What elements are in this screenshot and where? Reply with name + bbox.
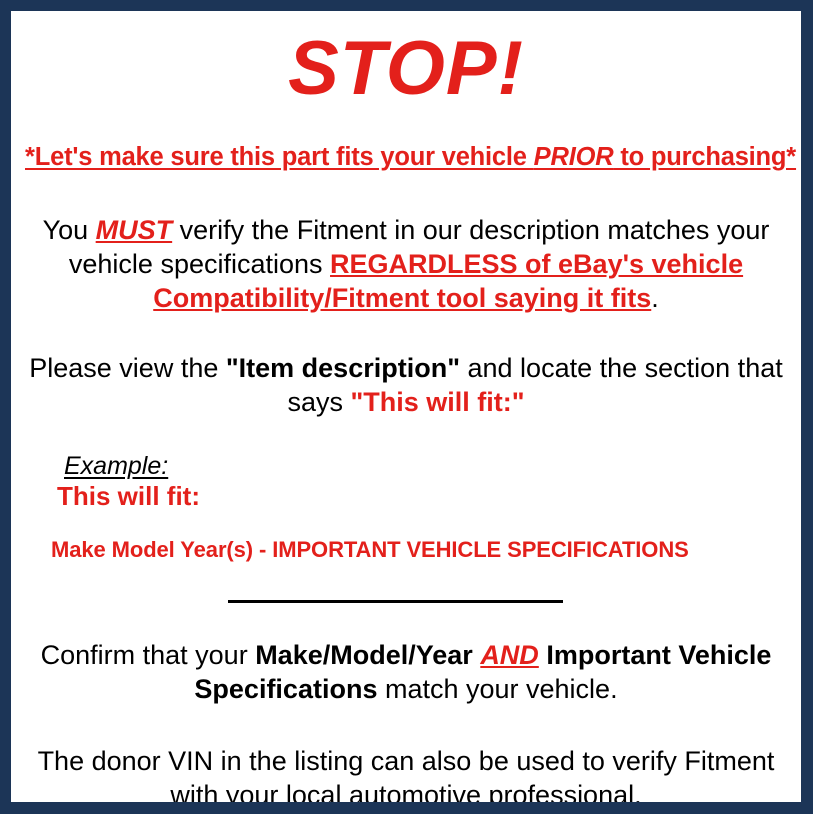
desc-seg-1: Please view the xyxy=(29,353,226,383)
notice-inner-panel: STOP! *Let's make sure this part fits yo… xyxy=(11,11,801,802)
confirm-seg-4: match your vehicle. xyxy=(377,674,617,704)
item-description-paragraph: Please view the "Item description" and l… xyxy=(25,351,787,419)
section-divider xyxy=(228,600,563,603)
divider-wrapper xyxy=(25,590,787,608)
subtitle-prior-emphasis: PRIOR xyxy=(534,143,614,171)
this-will-fit-emphasis: "This will fit:" xyxy=(350,387,524,417)
fitment-notice-banner: STOP! *Let's make sure this part fits yo… xyxy=(0,0,813,814)
must-emphasis: MUST xyxy=(96,215,173,245)
example-spec-line: Make Model Year(s) - IMPORTANT VEHICLE S… xyxy=(51,538,787,562)
must-verify-paragraph: You MUST verify the Fitment in our descr… xyxy=(25,213,787,315)
example-label-row: Example: xyxy=(64,453,787,479)
donor-vin-paragraph: The donor VIN in the listing can also be… xyxy=(25,744,787,802)
fitment-subtitle: *Let's make sure this part fits your veh… xyxy=(25,143,787,171)
and-emphasis: AND xyxy=(480,640,539,670)
confirm-seg-1: Confirm that your xyxy=(41,640,256,670)
subtitle-text-after: to purchasing* xyxy=(613,143,796,171)
must-seg-3: . xyxy=(651,283,659,313)
make-model-year-emphasis: Make/Model/Year xyxy=(255,640,473,670)
item-description-emphasis: "Item description" xyxy=(226,353,460,383)
confirm-paragraph: Confirm that your Make/Model/Year AND Im… xyxy=(25,638,787,706)
must-seg-1: You xyxy=(43,215,96,245)
stop-heading: STOP! xyxy=(25,31,787,107)
example-block: Example: This will fit: Make Model Year(… xyxy=(25,453,787,562)
example-fit-heading: This will fit: xyxy=(57,482,787,511)
example-label: Example: xyxy=(64,453,168,479)
subtitle-text-before: *Let's make sure this part fits your veh… xyxy=(25,143,534,171)
